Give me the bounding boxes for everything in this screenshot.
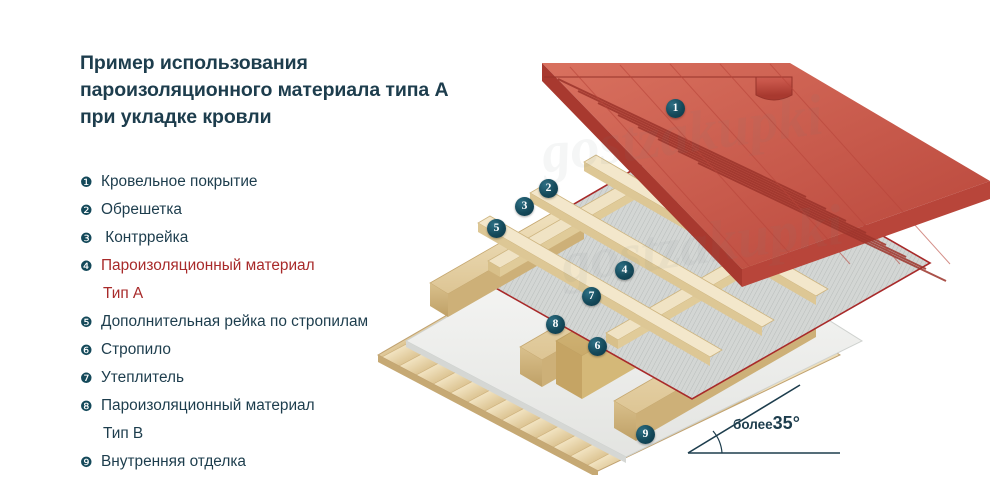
callout-marker-1[interactable]: 1 — [666, 99, 685, 118]
callout-marker-9[interactable]: 9 — [636, 425, 655, 444]
callout-marker-4[interactable]: 4 — [615, 261, 634, 280]
callout-marker-2[interactable]: 2 — [539, 179, 558, 198]
legend-item-label: Кровельное покрытие — [101, 168, 257, 196]
callout-marker-3[interactable]: 3 — [515, 197, 534, 216]
legend-item-label: Дополнительная рейка по стропилам — [101, 308, 368, 336]
legend-bullet-icon: ❶ — [80, 168, 101, 196]
legend-item-label: Стропило — [101, 336, 171, 364]
legend-item-label: Утеплитель — [101, 364, 184, 392]
slope-angle-prefix: более — [733, 417, 773, 432]
slope-angle-label: более35° — [733, 413, 800, 434]
legend-bullet-icon: ❾ — [80, 448, 101, 476]
legend-item-label: Контррейка — [101, 224, 188, 252]
callout-marker-7[interactable]: 7 — [582, 287, 601, 306]
slope-angle-value: 35° — [773, 413, 800, 433]
legend-item-label: Обрешетка — [101, 196, 182, 224]
legend-bullet-icon: ❸ — [80, 224, 101, 252]
callout-marker-8[interactable]: 8 — [546, 315, 565, 334]
callout-marker-5[interactable]: 5 — [487, 219, 506, 238]
legend-bullet-icon: ❻ — [80, 336, 101, 364]
legend-bullet-icon: ❷ — [80, 196, 101, 224]
roof-assembly-illustration: А В — [370, 55, 1008, 475]
callout-marker-6[interactable]: 6 — [588, 337, 607, 356]
legend-item-label: Внутренняя отделка — [101, 448, 246, 476]
diagram-page: Пример использования пароизоляционного м… — [0, 0, 1008, 481]
legend-bullet-icon: ❺ — [80, 308, 101, 336]
legend-item-sublabel: Тип В — [101, 420, 143, 448]
legend-item-label: Пароизоляционный материал — [101, 392, 315, 420]
legend-item-label: Пароизоляционный материал — [101, 252, 315, 280]
legend-item-sublabel: Тип А — [101, 280, 143, 308]
legend-bullet-icon: ❼ — [80, 364, 101, 392]
legend-bullet-icon: ❽ — [80, 392, 101, 420]
legend-bullet-icon: ❹ — [80, 252, 101, 280]
